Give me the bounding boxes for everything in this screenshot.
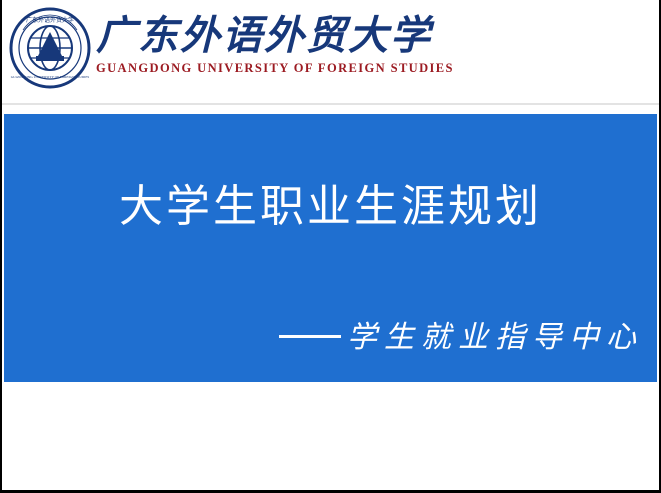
- subtitle-dash-icon: [279, 335, 341, 338]
- frame-edge-left: [0, 0, 2, 493]
- university-crest-icon: 广东外语外贸大学 GUANGDONG UNIVERSITY OF FOREIGN…: [8, 6, 92, 90]
- svg-text:广东外语外贸大学: 广东外语外贸大学: [26, 16, 74, 24]
- slide-footer-area: [0, 382, 661, 493]
- slide-title: 大学生职业生涯规划: [4, 170, 657, 234]
- school-name-block: 广东外语外贸大学 GUANGDONG UNIVERSITY OF FOREIGN…: [96, 12, 566, 88]
- svg-text:GUANGDONG UNIVERSITY OF FOREIG: GUANGDONG UNIVERSITY OF FOREIGN STUDIES: [11, 75, 90, 79]
- presentation-slide: 广东外语外贸大学 GUANGDONG UNIVERSITY OF FOREIGN…: [0, 0, 661, 493]
- school-name-chinese: 广东外语外贸大学: [96, 12, 566, 60]
- slide-subtitle-row: 学生就业指导中心: [279, 312, 643, 356]
- slide-subtitle: 学生就业指导中心: [347, 312, 643, 356]
- slide-header: 广东外语外贸大学 GUANGDONG UNIVERSITY OF FOREIGN…: [0, 0, 661, 104]
- title-panel: 大学生职业生涯规划 学生就业指导中心: [4, 114, 657, 382]
- school-name-english: GUANGDONG UNIVERSITY OF FOREIGN STUDIES: [96, 61, 566, 76]
- header-divider: [0, 103, 661, 105]
